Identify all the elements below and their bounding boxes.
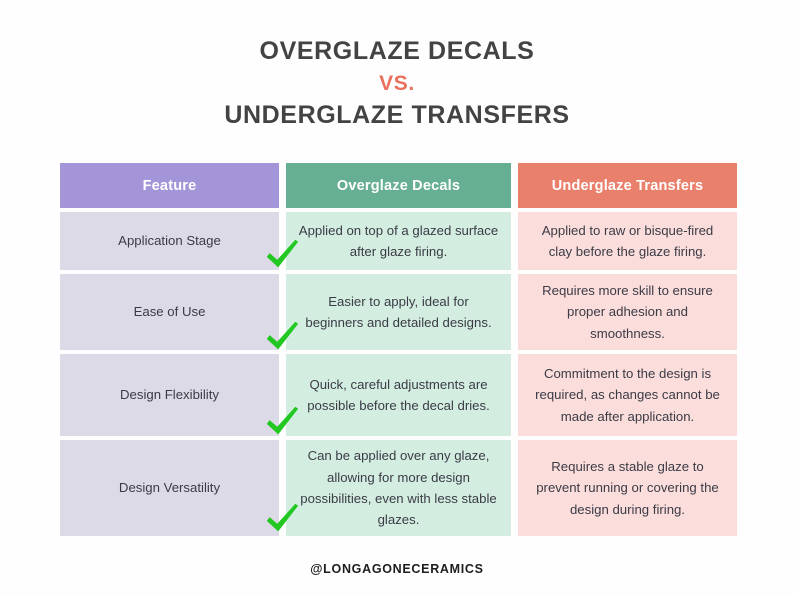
cell-feature: Ease of Use bbox=[60, 274, 279, 350]
cell-feature: Design Flexibility bbox=[60, 354, 279, 436]
title-line-2: UNDERGLAZE TRANSFERS bbox=[0, 100, 794, 132]
column-header-underglaze: Underglaze Transfers bbox=[518, 163, 737, 208]
table-row: Design Versatility Can be applied over a… bbox=[60, 440, 737, 536]
column-header-feature: Feature bbox=[60, 163, 279, 208]
cell-overglaze: Easier to apply, ideal for beginners and… bbox=[286, 274, 511, 350]
cell-feature: Application Stage bbox=[60, 212, 279, 270]
cell-overglaze: Quick, careful adjustments are possible … bbox=[286, 354, 511, 436]
footer-handle: @LONGAGONECERAMICS bbox=[0, 562, 794, 576]
table-row: Application Stage Applied on top of a gl… bbox=[60, 212, 737, 270]
cell-overglaze: Applied on top of a glazed surface after… bbox=[286, 212, 511, 270]
cell-overglaze: Can be applied over any glaze, allowing … bbox=[286, 440, 511, 536]
cell-feature: Design Versatility bbox=[60, 440, 279, 536]
title-line-1: OVERGLAZE DECALS bbox=[0, 36, 794, 68]
table-row: Ease of Use Easier to apply, ideal for b… bbox=[60, 274, 737, 350]
table-row: Design Flexibility Quick, careful adjust… bbox=[60, 354, 737, 436]
title-vs-separator: VS. bbox=[0, 68, 794, 101]
column-header-overglaze: Overglaze Decals bbox=[286, 163, 511, 208]
cell-underglaze: Commitment to the design is required, as… bbox=[518, 354, 737, 436]
cell-underglaze: Applied to raw or bisque-fired clay befo… bbox=[518, 212, 737, 270]
table-header-row: Feature Overglaze Decals Underglaze Tran… bbox=[60, 163, 737, 208]
cell-underglaze: Requires a stable glaze to prevent runni… bbox=[518, 440, 737, 536]
cell-underglaze: Requires more skill to ensure proper adh… bbox=[518, 274, 737, 350]
comparison-table: Feature Overglaze Decals Underglaze Tran… bbox=[60, 163, 737, 540]
page-title: OVERGLAZE DECALS VS. UNDERGLAZE TRANSFER… bbox=[0, 0, 794, 132]
